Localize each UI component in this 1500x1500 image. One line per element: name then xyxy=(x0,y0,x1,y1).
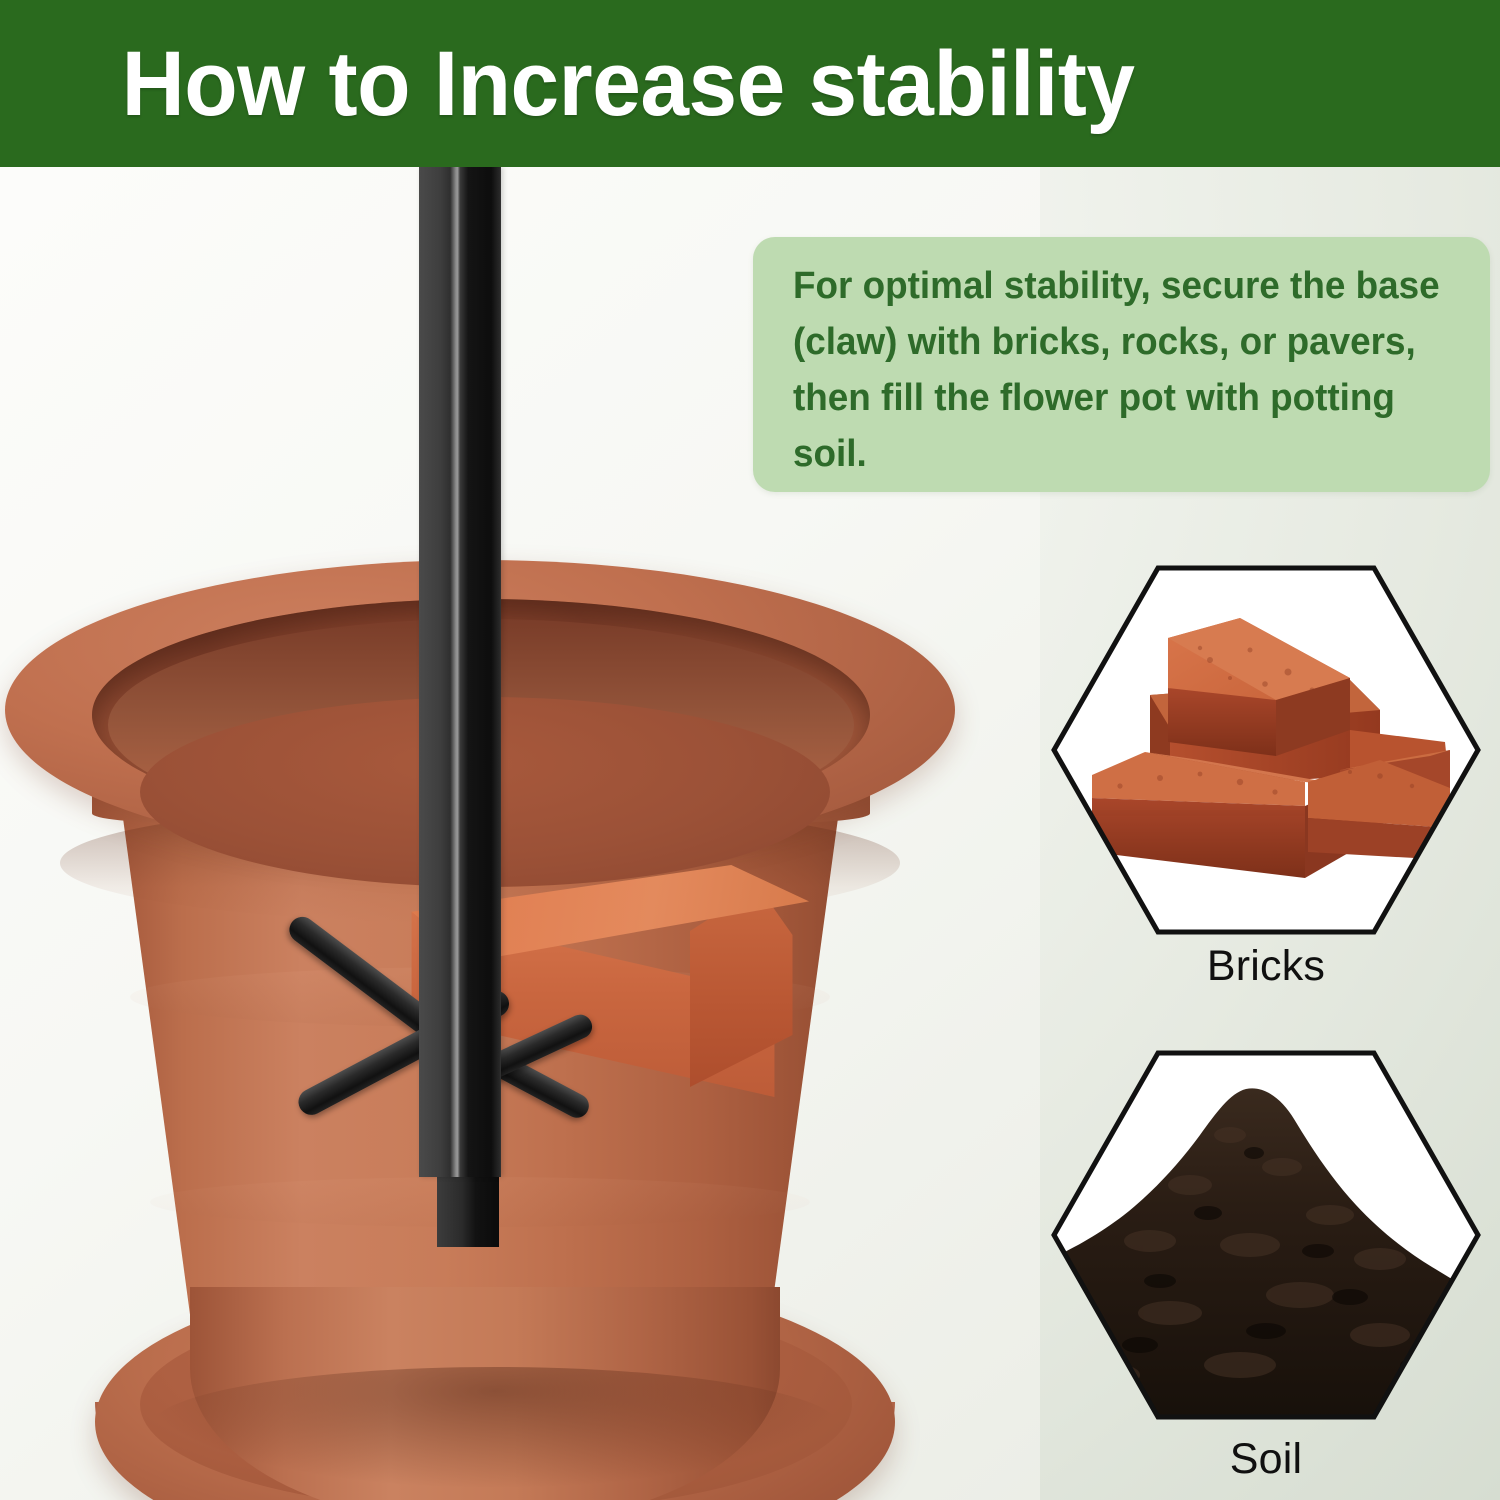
brick-pile-icon xyxy=(1050,560,1482,940)
infographic-page: How to Increase stability xyxy=(0,0,1500,1500)
soil-mound-icon xyxy=(1050,1045,1482,1425)
product-photo xyxy=(0,167,1040,1500)
card-label-soil: Soil xyxy=(1050,1435,1482,1484)
page-header: How to Increase stability xyxy=(0,0,1500,167)
card-bricks[interactable]: Bricks xyxy=(1050,560,1482,1010)
claw-base xyxy=(0,167,1040,1500)
metal-pole xyxy=(419,167,501,1177)
page-title: How to Increase stability xyxy=(0,38,1135,130)
card-soil[interactable]: Soil xyxy=(1050,1045,1482,1500)
card-label-bricks: Bricks xyxy=(1050,942,1482,991)
